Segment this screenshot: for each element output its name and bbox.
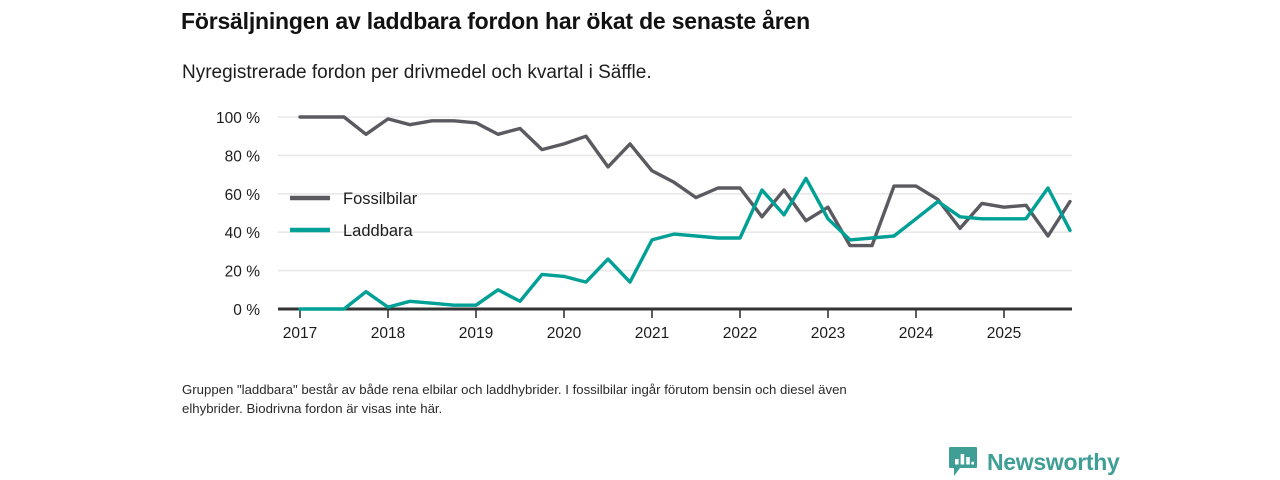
x-axis-tick-label: 2023 (811, 325, 845, 342)
newsworthy-logo[interactable]: Newsworthy (948, 446, 1119, 478)
chart-footnote: Gruppen "laddbara" består av både rena e… (182, 380, 1062, 418)
x-axis-tick-label: 2025 (987, 325, 1021, 342)
x-axis-tick-label: 2022 (723, 325, 757, 342)
series-line-fossilbilar (300, 117, 1070, 246)
y-axis-tick-label: 40 % (225, 225, 261, 242)
newsworthy-wordmark: Newsworthy (987, 449, 1119, 476)
footnote-line-1: Gruppen "laddbara" består av både rena e… (182, 380, 1062, 399)
x-axis-tick-label: 2019 (459, 325, 493, 342)
x-axis-tick-label: 2024 (899, 325, 934, 342)
y-axis-tick-label: 100 % (216, 110, 260, 127)
y-axis-labels: 0 %20 %40 %60 %80 %100 % (216, 110, 260, 319)
x-axis-labels: 201720182019202020212022202320242025 (283, 325, 1021, 342)
chart-series (300, 117, 1070, 309)
footnote-line-2: elhybrider. Biodrivna fordon är visas in… (182, 399, 1062, 418)
y-axis-tick-label: 60 % (225, 187, 261, 204)
bar-chart-speech-bubble-icon (948, 446, 978, 478)
x-axis-tick-label: 2020 (547, 325, 582, 342)
x-axis-tick-label: 2021 (635, 325, 669, 342)
y-axis-tick-label: 0 % (233, 302, 260, 319)
y-axis-tick-label: 20 % (225, 264, 261, 281)
legend-label-fossilbilar: Fossilbilar (343, 190, 418, 208)
x-axis-tick-label: 2018 (371, 325, 405, 342)
legend-label-laddbara: Laddbara (343, 222, 414, 240)
x-axis-tick-label: 2017 (283, 325, 317, 342)
y-axis-tick-label: 80 % (225, 148, 261, 165)
chart-page: Försäljningen av laddbara fordon har öka… (0, 0, 1280, 480)
